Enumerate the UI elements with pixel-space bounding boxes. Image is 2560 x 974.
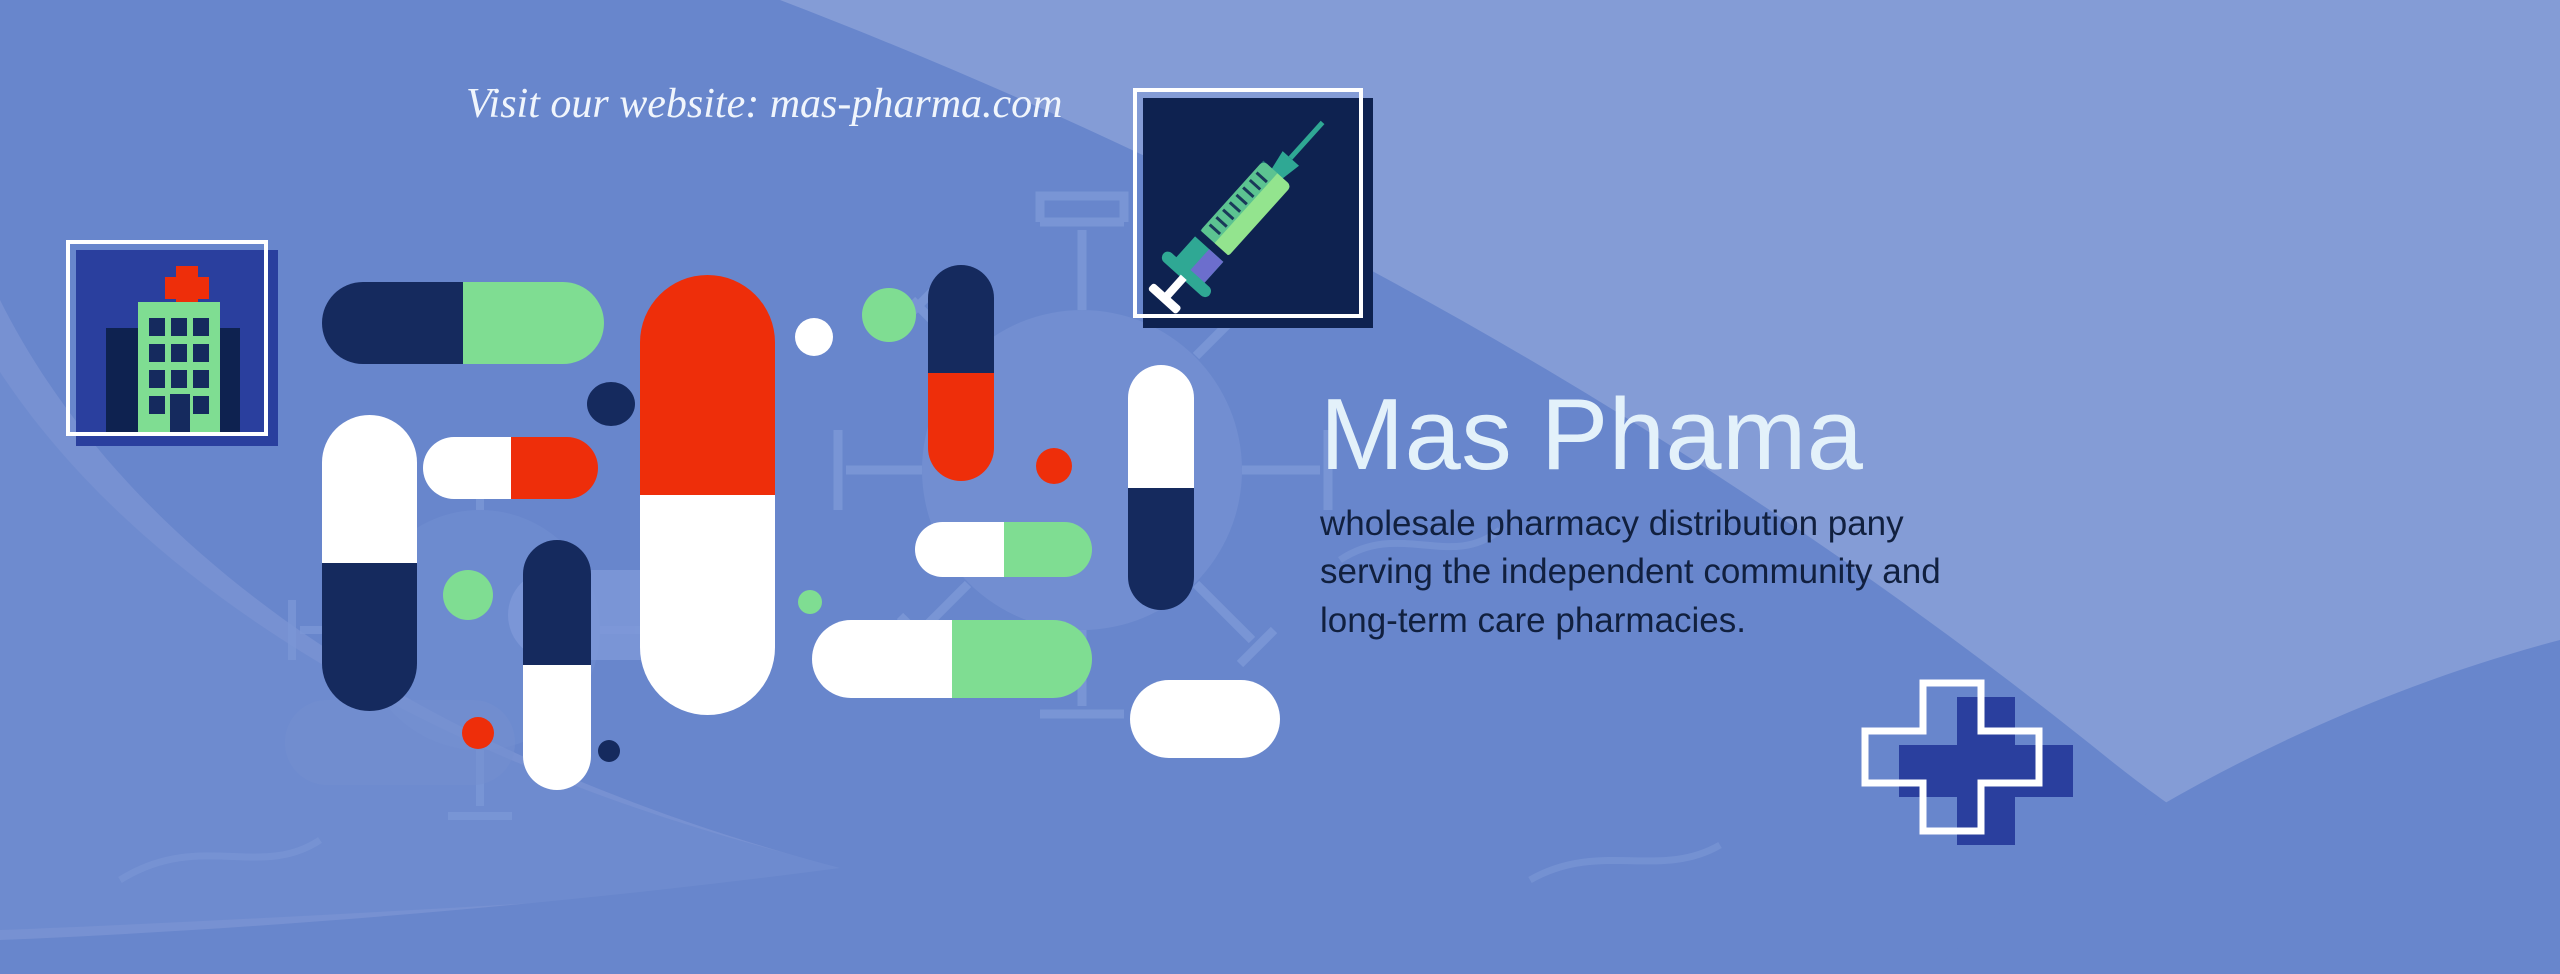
pill-half-navy xyxy=(928,265,994,373)
dot-green-small xyxy=(443,570,493,620)
pill-half-red xyxy=(928,373,994,481)
pill-half-white xyxy=(1128,365,1194,488)
pill-half-navy xyxy=(523,540,591,665)
pill-half-red xyxy=(640,275,775,495)
dot-red-tiny xyxy=(1036,448,1072,484)
dot-navy-large xyxy=(587,382,635,426)
pill-half-white xyxy=(423,437,511,499)
pill-half-navy xyxy=(322,563,417,711)
pill-white-green-bottom xyxy=(812,620,1092,698)
pill-half-white xyxy=(915,522,1004,577)
pill-navy-green-top xyxy=(322,282,604,364)
pill-white-green-middle xyxy=(915,522,1092,577)
dot-red-small xyxy=(462,717,494,749)
pill-half-green xyxy=(1004,522,1093,577)
dot-white-small xyxy=(795,318,833,356)
dot-navy-tiny xyxy=(598,740,620,762)
pill-half-green xyxy=(952,620,1092,698)
syringe-icon-art xyxy=(1133,88,1363,318)
brand-description-line-3: long-term care pharmacies. xyxy=(1320,597,2140,645)
dot-green-med xyxy=(862,288,916,342)
pill-half-navy xyxy=(322,282,463,364)
pill-half-white xyxy=(640,495,775,715)
hospital-icon-art xyxy=(66,240,268,436)
dot-green-tiny xyxy=(798,590,822,614)
pill-half-navy xyxy=(1128,488,1194,611)
pill-half-green xyxy=(463,282,604,364)
syringe-icon xyxy=(1133,88,1363,318)
pill-white-navy-right xyxy=(1128,365,1194,610)
pill-white-red-small xyxy=(423,437,598,499)
pill-half-red xyxy=(511,437,599,499)
pill-navy-white-center xyxy=(523,540,591,790)
page-title: Mas Phama xyxy=(1320,385,2140,486)
hospital-icon xyxy=(66,240,268,436)
pill-half-white xyxy=(523,665,591,790)
pill-half-white xyxy=(812,620,952,698)
pill-half-white xyxy=(322,415,417,563)
medical-cross-logo xyxy=(1845,665,2075,865)
brand-text-block: Mas Phama wholesale pharmacy distributio… xyxy=(1320,385,2140,645)
pharmacy-promo-banner: Visit our website: mas-pharma.com xyxy=(0,0,2560,974)
brand-description-line-1: wholesale pharmacy distribution pany xyxy=(1320,500,2140,548)
website-tagline: Visit our website: mas-pharma.com xyxy=(466,80,1063,128)
brand-description: wholesale pharmacy distribution pany ser… xyxy=(1320,500,2140,645)
pill-red-white-large xyxy=(640,275,775,715)
pill-white-navy-left xyxy=(322,415,417,711)
brand-description-line-2: serving the independent community and xyxy=(1320,548,2140,596)
pill-navy-red-tall xyxy=(928,265,994,481)
pill-white-right-edge xyxy=(1130,680,1280,758)
